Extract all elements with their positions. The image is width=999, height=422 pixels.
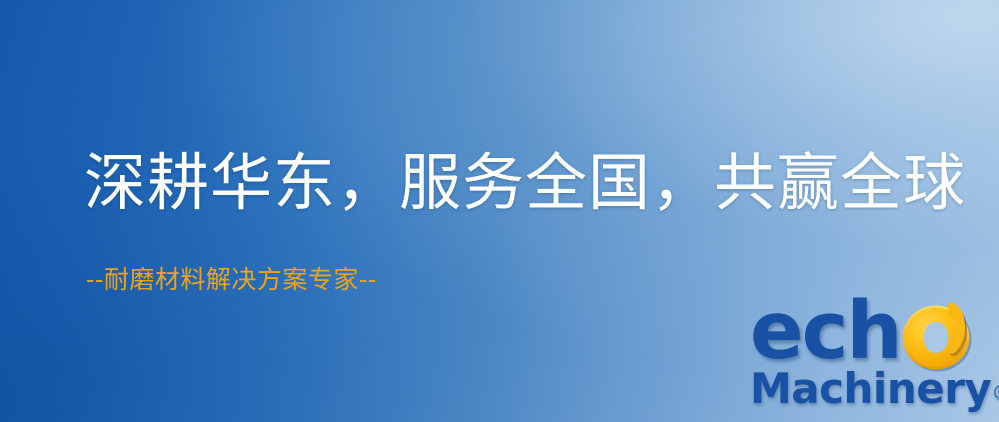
company-logo[interactable]: ech bbox=[748, 296, 999, 422]
logo-brand-text: Machinery bbox=[750, 364, 991, 413]
echo-waves-icon bbox=[938, 294, 999, 356]
banner-subtitle: --耐磨材料解决方案专家-- bbox=[86, 266, 377, 294]
registered-trademark-icon: ® bbox=[991, 381, 999, 405]
banner-headline: 深耕华东，服务全国，共赢全球 bbox=[84, 150, 966, 215]
promo-banner: 深耕华东，服务全国，共赢全球 --耐磨材料解决方案专家-- ech bbox=[0, 0, 999, 422]
logo-wordmark-ech: ech bbox=[750, 292, 901, 371]
logo-brand-line: Machinery® bbox=[750, 368, 999, 410]
